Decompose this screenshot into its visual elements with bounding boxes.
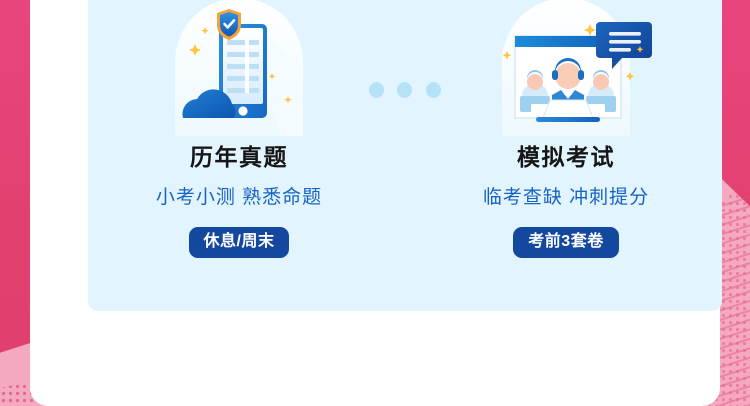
panel-subtitle: 小考小测 熟悉命题 (131, 188, 347, 207)
connector-dot (369, 82, 384, 98)
feature-card-row: 历年真题 小考小测 熟悉命题 休息/周末 (88, 0, 722, 311)
panel-past-exam-papers[interactable]: 历年真题 小考小测 熟悉命题 休息/周末 (131, 0, 347, 258)
promo-page: 历年真题 小考小测 熟悉命题 休息/周末 (0, 0, 750, 406)
panel-mock-exam[interactable]: 模拟考试 临考查缺 冲刺提分 考前3套卷 (458, 0, 674, 258)
connector-dot (397, 82, 412, 98)
connector-dot (426, 82, 441, 98)
phone-shield-cloud-illustration (131, 0, 347, 136)
panel-subtitle: 临考查缺 冲刺提分 (458, 188, 674, 207)
panel-title: 模拟考试 (458, 146, 674, 169)
panel-title: 历年真题 (131, 146, 347, 169)
feature-card: 历年真题 小考小测 熟悉命题 休息/周末 (88, 0, 722, 311)
white-content-sheet: 历年真题 小考小测 熟悉命题 休息/周末 (30, 0, 720, 406)
panel-badge[interactable]: 休息/周末 (189, 227, 290, 258)
panel-badge[interactable]: 考前3套卷 (513, 227, 618, 258)
connector-dots (369, 82, 441, 98)
online-class-video-illustration (458, 0, 674, 136)
